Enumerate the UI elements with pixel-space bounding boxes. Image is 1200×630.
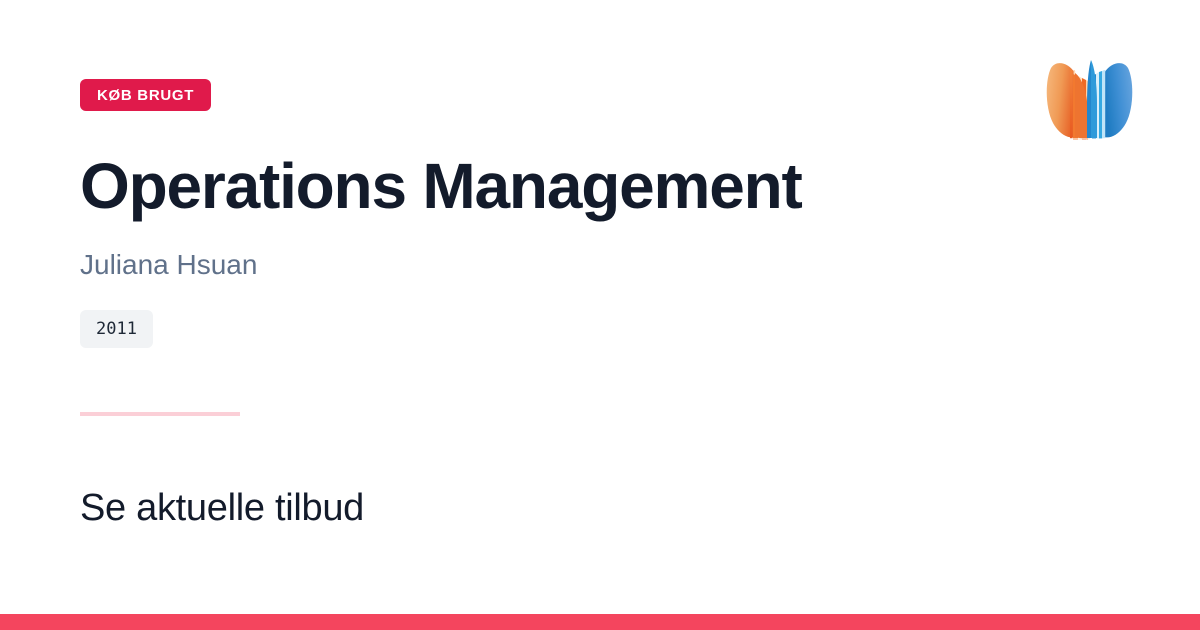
book-title: Operations Management [80, 152, 802, 221]
bottom-accent-bar [0, 614, 1200, 630]
section-divider [80, 412, 240, 416]
brand-logo [1042, 52, 1138, 156]
condition-badge: KØB BRUGT [80, 79, 211, 111]
logo-mark [1047, 60, 1133, 142]
metadata-chip-row: 2011 [80, 310, 153, 348]
book-author: Juliana Hsuan [80, 248, 257, 282]
og-card: KØB BRUGT Operations Management Juliana … [0, 0, 1200, 630]
offers-cta-text: Se aktuelle tilbud [80, 486, 364, 532]
publication-year-chip: 2011 [80, 310, 153, 348]
